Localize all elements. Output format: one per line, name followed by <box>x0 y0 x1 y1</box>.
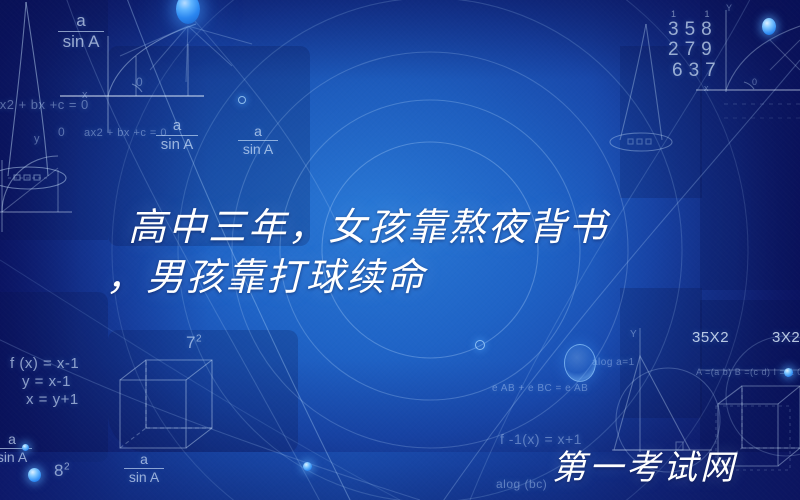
formula-power-7-squared: 72 <box>186 334 202 351</box>
glow-orb-top-right <box>762 18 776 35</box>
headline-line-1: 高中三年，女孩靠熬夜背书 <box>128 207 608 249</box>
formula-frac-sin-a-5: a sin A <box>124 452 164 484</box>
axis-label-y-3: Y <box>630 330 637 340</box>
base-value: 8 <box>54 461 64 480</box>
glow-orb-bottom-left <box>28 468 41 482</box>
banner-headline: 高中三年，女孩靠熬夜背书 ，男孩靠打球续命 <box>128 203 748 303</box>
fraction-numerator: a <box>238 124 278 139</box>
fraction-denominator: sin A <box>156 137 198 153</box>
formula-fx-linear: f (x) = x-1 <box>10 356 79 371</box>
fraction-denominator: sin A <box>124 470 164 485</box>
headline-line-2: ，男孩靠打球续命 <box>106 253 748 303</box>
axis-label-x-1: x <box>82 90 88 101</box>
fraction-denominator: sin A <box>238 142 278 157</box>
base-value: 7 <box>186 333 196 352</box>
formula-log-a-equals-1: alog a=1 <box>592 358 635 368</box>
carry-digits: 1 1 <box>668 10 732 20</box>
formula-x-linear: x = y+1 <box>26 392 79 407</box>
formula-dim-35x2: 35X2 <box>692 330 729 345</box>
formula-log-product: alog (bc) <box>496 478 547 490</box>
axis-label-x-2: x <box>704 84 709 93</box>
angle-label-origin-2: 0 <box>752 78 758 87</box>
glow-dot-mid-lower <box>303 462 312 471</box>
glow-dot-left-low <box>22 444 29 451</box>
glow-orb-center-right <box>564 344 596 382</box>
formula-dim-3x2: 3X2 <box>772 330 800 345</box>
formula-power-8-squared: 82 <box>54 462 70 479</box>
formula-frac-sin-a-1: a sin A <box>58 12 104 51</box>
fraction-denominator: sin A <box>0 450 32 465</box>
subtrahend-value: 279 <box>668 39 718 60</box>
glow-dot-right-edge <box>784 368 793 377</box>
glow-dot-center-small <box>475 340 485 350</box>
long-subtraction-block: 1 1 358 279 637 <box>668 10 732 81</box>
site-watermark: 第一考试网 <box>552 440 737 489</box>
exponent-value: 2 <box>196 333 202 344</box>
formula-y-linear: y = x-1 <box>22 374 71 389</box>
result-value: 637 <box>668 61 722 82</box>
glow-dot-upper-mid <box>238 96 246 104</box>
banner-canvas: a sin A a sin A a sin A a sin A a sin A … <box>0 0 800 500</box>
fraction-numerator: a <box>124 452 164 467</box>
formula-quadratic-2: ax2 + bx +c = 0 <box>84 128 167 139</box>
fraction-denominator: sin A <box>58 33 104 51</box>
formula-vector-sum: e AB + e BC = e AB <box>492 384 588 394</box>
fraction-numerator: a <box>58 12 104 30</box>
label-zero: 0 <box>58 126 65 138</box>
axis-label-y-1: y <box>34 134 40 145</box>
angle-label-origin-1: 0 <box>136 76 143 88</box>
exponent-value: 2 <box>64 461 70 472</box>
minuend-value: 358 <box>668 19 718 40</box>
formula-quadratic-1: ax2 + bx +c = 0 <box>0 98 89 111</box>
formula-frac-sin-a-6: a sin A <box>238 124 278 156</box>
